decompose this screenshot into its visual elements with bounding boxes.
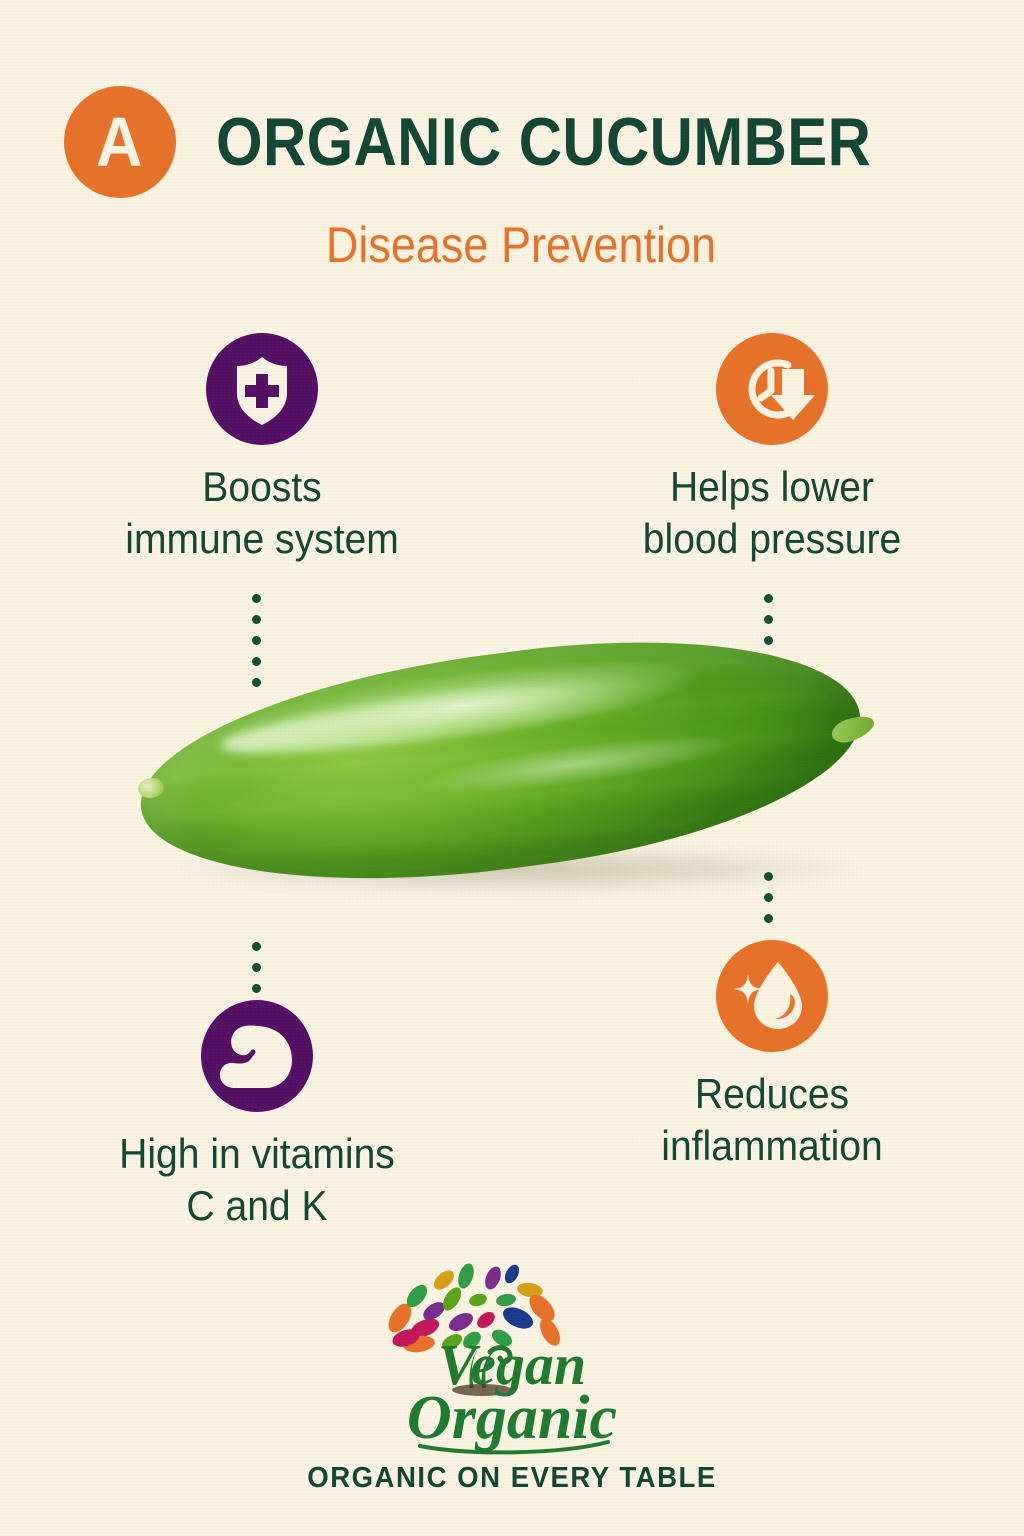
connector-dot: [764, 615, 773, 624]
page-subtitle: Disease Prevention: [51, 220, 973, 270]
infographic-poster: A ORGANIC CUCUMBER Disease Prevention Bo…: [0, 0, 1024, 1536]
feature-vitamins-label: High in vitamins C and K: [52, 1128, 461, 1232]
clock-down-arrow-icon: [716, 333, 828, 445]
water-droplet-sparkle-icon: [716, 940, 828, 1052]
feature-inflammation-label: Reduces inflammation: [567, 1068, 976, 1172]
connector-dot: [764, 594, 773, 603]
connector-dot: [252, 963, 261, 972]
feature-immune-line2: immune system: [57, 513, 466, 565]
brand-logo-block: Vegan Organic ORGANIC ON EVERY TABLE: [0, 1256, 1024, 1495]
feature-vitamins: High in vitamins C and K: [37, 1000, 477, 1232]
feature-inflammation-line1: Reduces: [567, 1068, 976, 1120]
connector-dots-vitamins: [252, 942, 261, 993]
shield-plus-icon: [206, 333, 318, 445]
feature-vitamins-line1: High in vitamins: [52, 1128, 461, 1180]
feature-pressure-line1: Helps lower: [567, 461, 976, 513]
feature-immune-label: Boosts immune system: [57, 461, 466, 565]
poster-header: A ORGANIC CUCUMBER Disease Prevention: [0, 84, 1024, 264]
title-row: A ORGANIC CUCUMBER: [0, 84, 1024, 200]
letter-badge: A: [64, 86, 176, 198]
connector-dot: [252, 615, 261, 624]
feature-pressure-label: Helps lower blood pressure: [567, 461, 976, 565]
feature-pressure-line2: blood pressure: [567, 513, 976, 565]
connector-dot: [252, 942, 261, 951]
logo-word-organic: Organic: [407, 1384, 617, 1452]
vegan-organic-logo-icon: Vegan Organic: [362, 1256, 662, 1456]
feature-inflammation-line2: inflammation: [567, 1120, 976, 1172]
connector-dot: [252, 984, 261, 993]
feature-inflammation: Reduces inflammation: [552, 940, 992, 1172]
feature-vitamins-line2: C and K: [52, 1180, 461, 1232]
badge-letter: A: [96, 107, 143, 177]
page-title: ORGANIC CUCUMBER: [216, 108, 871, 176]
connector-dot: [252, 594, 261, 603]
brand-tagline: ORGANIC ON EVERY TABLE: [26, 1462, 999, 1495]
feature-immune-system: Boosts immune system: [42, 333, 482, 565]
cucumber-image: [118, 628, 918, 928]
feature-blood-pressure: Helps lower blood pressure: [552, 333, 992, 565]
flexed-bicep-icon: [201, 1000, 313, 1112]
feature-immune-line1: Boosts: [57, 461, 466, 513]
